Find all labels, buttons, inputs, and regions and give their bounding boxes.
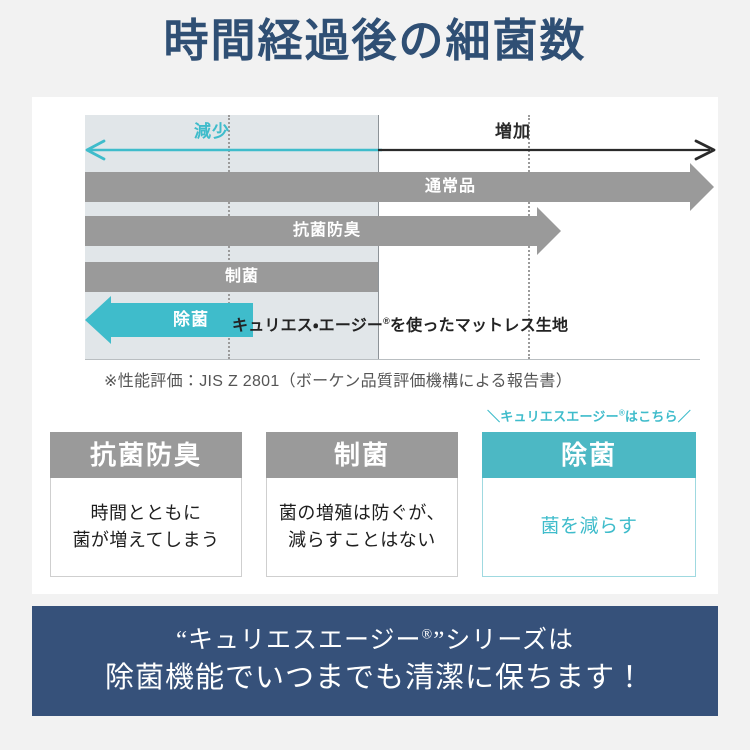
- card-bacteriostatic-line2: 減らすことはない: [288, 530, 436, 550]
- banner-line-1: “キュリエスエージー®”シリーズは: [176, 623, 574, 658]
- bar-bacteriostatic: 制菌: [85, 262, 378, 292]
- card-callout-pre: ＼キュリエスエージー: [487, 409, 619, 424]
- page-title: 時間経過後の細菌数: [0, 14, 750, 68]
- bar-sterilization-caption: キュリエス・エージー®を使ったマットレス生地: [232, 305, 568, 337]
- bar-antibacterial-deodorant: 抗菌防臭: [85, 216, 561, 246]
- card-antibacterial-deodorant: 抗菌防臭 時間とともに 菌が増えてしまう: [50, 432, 242, 577]
- axis-arrows: [32, 139, 718, 161]
- registered-mark-icon: ®: [422, 628, 434, 643]
- card-callout-label: ＼キュリエスエージー®はこちら／: [482, 406, 696, 425]
- axis-arrow-left-icon: [82, 139, 382, 161]
- card-bacteriostatic: 制菌 菌の増殖は防ぐが、 減らすことはない: [266, 432, 458, 577]
- card-sterilization-body: 菌を減らす: [482, 478, 696, 577]
- bar-antibacterial-deodorant-arrowhead-icon: [537, 207, 561, 255]
- card-sterilization-header: 除菌: [482, 432, 696, 478]
- card-sterilization-line1: 菌を減らす: [540, 516, 637, 537]
- chart-panel: 減少 増加 通常品 抗菌防臭 制菌: [32, 97, 718, 594]
- chart-footnote: ※性能評価：JIS Z 2801（ボーケン品質評価機構による報告書）: [104, 367, 572, 391]
- card-bacteriostatic-body: 菌の増殖は防ぐが、 減らすことはない: [266, 478, 458, 577]
- axis-arrow-right-icon: [378, 139, 718, 161]
- card-antibacterial-deodorant-header: 抗菌防臭: [50, 432, 242, 478]
- banner-line-1-post: ”シリーズは: [433, 627, 574, 654]
- bar-sterilization-label: 除菌: [173, 303, 209, 337]
- bar-normal-product-label: 通常品: [425, 172, 476, 202]
- banner-line-1-pre: “キュリエスエージー: [176, 627, 422, 654]
- bar-antibacterial-deodorant-label: 抗菌防臭: [293, 216, 361, 246]
- registered-mark-icon: ®: [383, 316, 390, 326]
- chart-area: 減少 増加 通常品 抗菌防臭 制菌: [32, 97, 718, 367]
- card-callout-post: はこちら／: [625, 409, 691, 424]
- card-bacteriostatic-header: 制菌: [266, 432, 458, 478]
- card-antibacterial-deodorant-line1: 時間とともに: [90, 503, 201, 523]
- card-antibacterial-deodorant-line2: 菌が増えてしまう: [72, 530, 219, 550]
- banner-line-2: 除菌機能でいつまでも清潔に保ちます！: [105, 658, 645, 699]
- bar-sterilization-caption-pre: キュリエス・エージー: [232, 317, 383, 334]
- bar-normal-product: 通常品: [85, 172, 714, 202]
- bar-normal-product-body: [85, 172, 690, 202]
- bar-sterilization-caption-post: を使ったマットレス生地: [390, 317, 568, 334]
- bar-normal-product-arrowhead-icon: [690, 163, 714, 211]
- chart-baseline: [85, 359, 700, 360]
- bar-bacteriostatic-label: 制菌: [225, 262, 259, 292]
- bar-sterilization-arrowhead-icon: [85, 296, 111, 344]
- comparison-cards: ＼キュリエスエージー®はこちら／ 抗菌防臭 時間とともに 菌が増えてしまう 制菌…: [50, 432, 700, 577]
- bottom-banner: “キュリエスエージー®”シリーズは 除菌機能でいつまでも清潔に保ちます！: [32, 606, 718, 716]
- card-bacteriostatic-line1: 菌の増殖は防ぐが、: [279, 503, 445, 523]
- card-sterilization: 除菌 菌を減らす: [482, 432, 696, 577]
- card-antibacterial-deodorant-body: 時間とともに 菌が増えてしまう: [50, 478, 242, 577]
